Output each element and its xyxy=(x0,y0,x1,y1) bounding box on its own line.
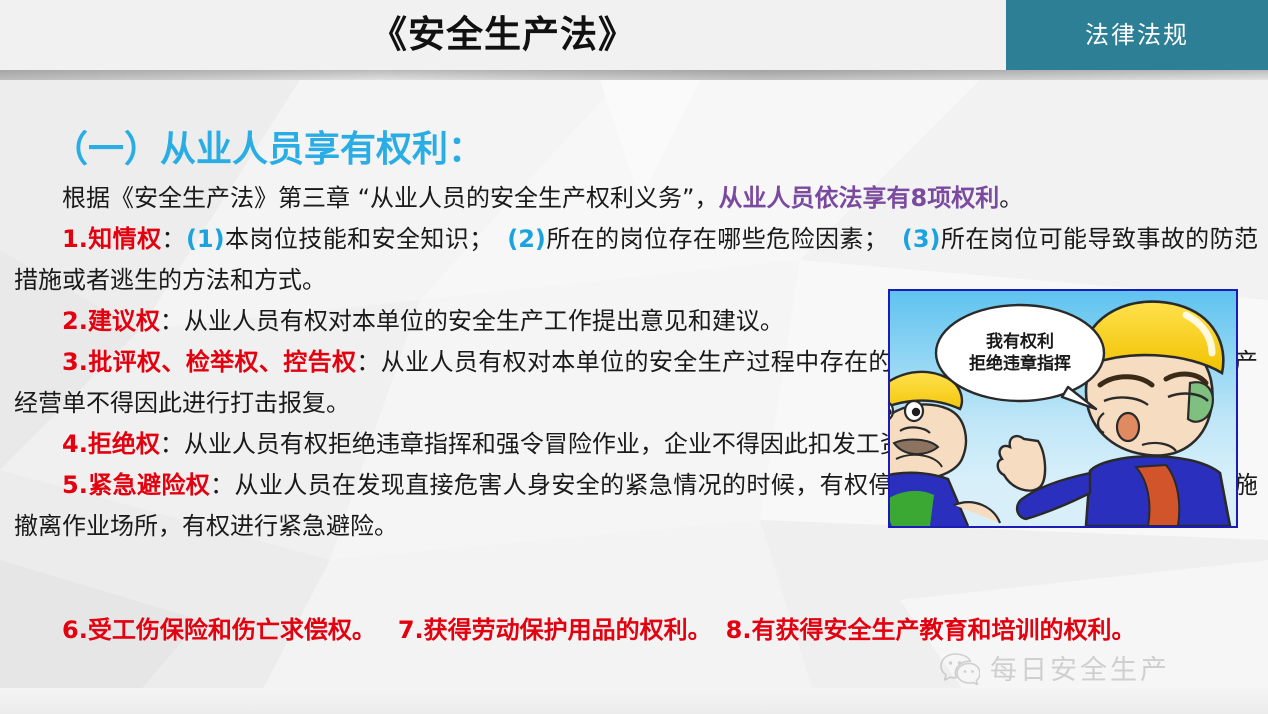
slide: 《安全生产法》 法律法规 （一）从业人员享有权利： 根据《安全生产法》第三章 “… xyxy=(0,0,1268,714)
right-3-colon: ： xyxy=(356,348,380,376)
right-2-colon: ： xyxy=(160,307,184,335)
right-6-label: 6.受工伤保险和伤亡求偿权。 xyxy=(62,616,376,644)
right-8-period: 。 xyxy=(1111,616,1135,644)
right-7-label: 7.获得劳动保护用品的权利。 xyxy=(398,616,712,644)
right-1-sub2-marker: (2) xyxy=(507,225,546,253)
category-badge: 法律法规 xyxy=(1006,0,1268,70)
speech-line-2: 拒绝违章指挥 xyxy=(969,353,1071,374)
wechat-icon xyxy=(940,651,980,685)
watermark-label: 每日安全生产 xyxy=(990,648,1170,687)
section-heading: （一）从业人员享有权利： xyxy=(52,120,484,172)
slide-header: 《安全生产法》 法律法规 xyxy=(0,0,1268,70)
watermark: 每日安全生产 xyxy=(940,648,1170,687)
right-5-label: 5.紧急避险权 xyxy=(62,471,210,499)
right-1-sub3-marker: (3) xyxy=(902,225,941,253)
right-4-colon: ： xyxy=(160,430,184,458)
cartoon-illustration: 我有权利 拒绝违章指挥 xyxy=(888,289,1238,528)
page-title: 《安全生产法》 xyxy=(0,0,1006,70)
speech-line-1: 我有权利 xyxy=(986,331,1054,352)
right-1-colon: ： xyxy=(162,225,186,253)
right-1-sub1-text: 本岗位技能和安全知识； xyxy=(225,225,494,253)
right-2-label: 2.建议权 xyxy=(62,307,160,335)
right-1-label: 1.知情权 xyxy=(62,225,162,253)
rights-final-line: 6.受工伤保险和伤亡求偿权。7.获得劳动保护用品的权利。8.有获得安全生产教育和… xyxy=(14,610,1258,651)
right-4-label: 4.拒绝权 xyxy=(62,430,160,458)
right-5-colon: ： xyxy=(210,471,234,499)
intro-tail: 。 xyxy=(999,184,1023,212)
intro-paragraph: 根据《安全生产法》第三章 “从业人员的安全生产权利义务”，从业人员依法享有8项权… xyxy=(14,178,1258,219)
intro-highlight: 从业人员依法享有8项权利 xyxy=(719,184,1000,212)
right-3-label: 3.批评权、检举权、控告权 xyxy=(62,348,356,376)
right-1-sub1-marker: (1) xyxy=(186,225,225,253)
right-1-sub2-text: 所在的岗位存在哪些危险因素； xyxy=(546,225,888,253)
intro-lead: 根据《安全生产法》第三章 “从业人员的安全生产权利义务”， xyxy=(62,184,719,212)
header-divider xyxy=(0,70,1268,80)
right-2-body: 从业人员有权对本单位的安全生产工作提出意见和建议。 xyxy=(184,307,784,335)
cartoon-artwork: 我有权利 拒绝违章指挥 xyxy=(890,291,1236,526)
right-8-label: 8.有获得安全生产教育和培训的权利 xyxy=(726,616,1112,644)
